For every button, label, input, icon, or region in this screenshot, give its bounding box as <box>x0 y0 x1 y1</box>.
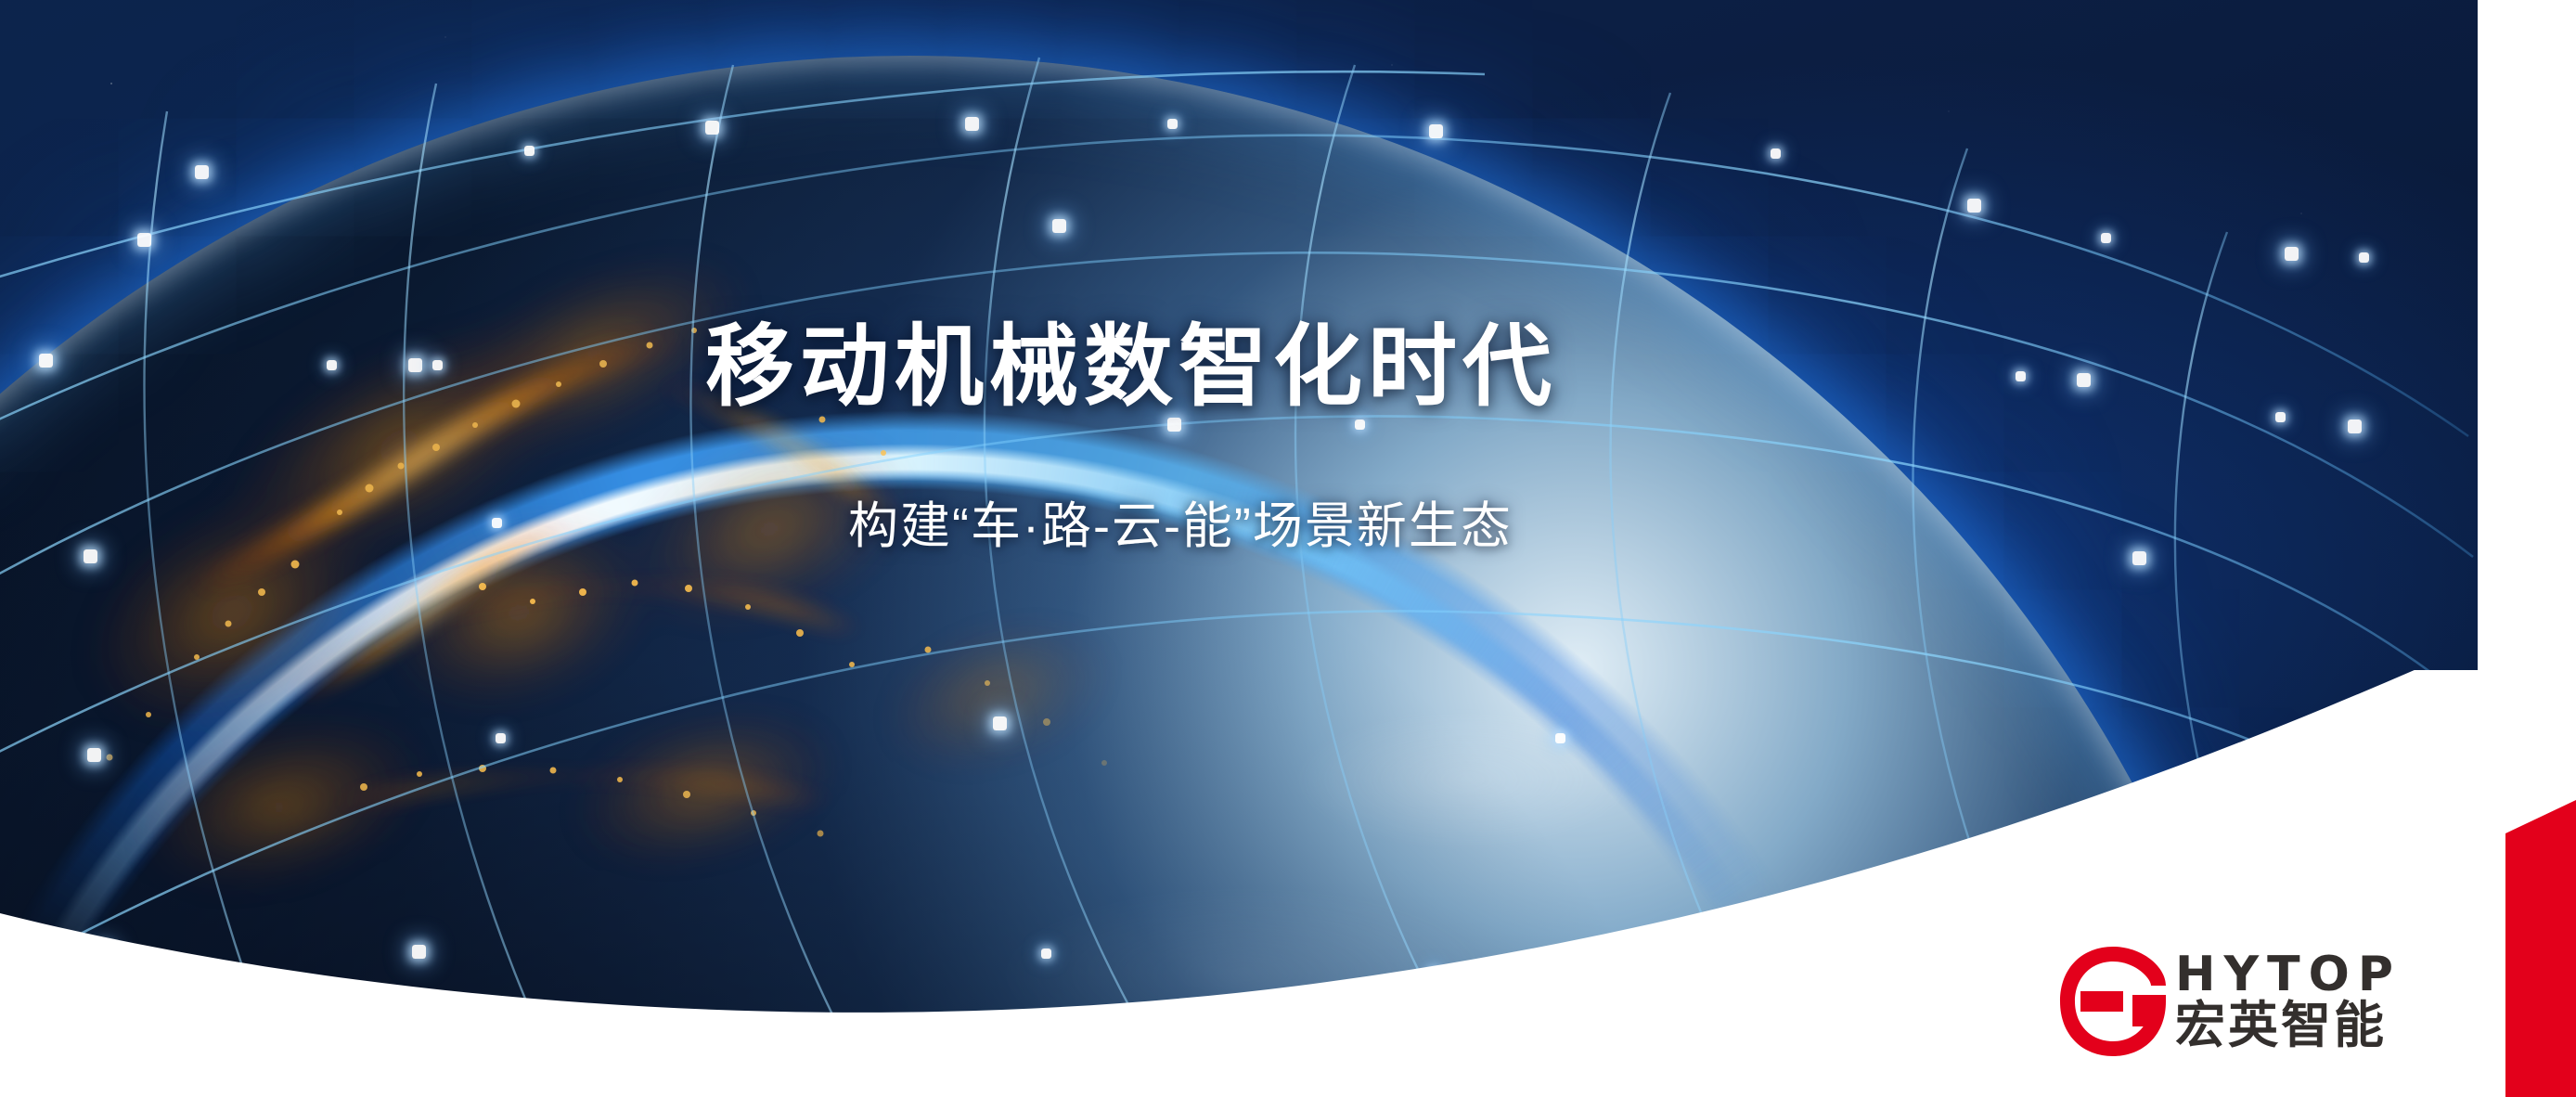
logo-wordmark: HYTOP 宏英智能 <box>2175 939 2454 1060</box>
hytop-g-mark-icon <box>2058 945 2168 1058</box>
red-accent-bar-svg <box>2505 0 2576 1097</box>
hytop-g-mark-svg <box>2058 945 2168 1058</box>
page-title: 移动机械数智化时代 <box>705 323 1557 412</box>
space-background: 移动机械数智化时代 构建“车·路-云-能”场景新生态 <box>0 0 2478 1097</box>
logo-english-name: HYTOP <box>2175 950 2402 999</box>
red-accent-bar <box>2505 0 2576 1097</box>
title-slide: 移动机械数智化时代 构建“车·路-云-能”场景新生态 HYTOP 宏英智能 <box>0 0 2576 1097</box>
headline-block: 移动机械数智化时代 构建“车·路-云-能”场景新生态 <box>0 0 2478 1097</box>
logo-chinese-name: 宏英智能 <box>2175 1000 2387 1051</box>
page-subtitle: 构建“车·路-云-能”场景新生态 <box>848 501 1513 551</box>
company-logo: HYTOP 宏英智能 <box>2058 939 2448 1069</box>
